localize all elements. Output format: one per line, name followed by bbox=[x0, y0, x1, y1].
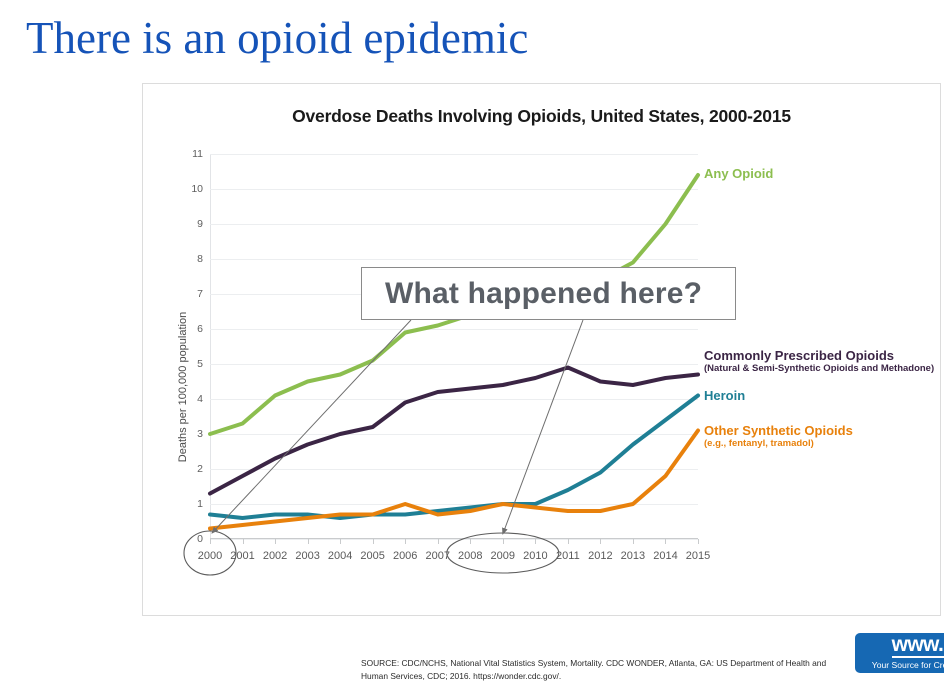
series-lines bbox=[210, 154, 698, 539]
x-tick-mark bbox=[665, 539, 666, 544]
x-tick-mark bbox=[340, 539, 341, 544]
y-tick-label: 10 bbox=[191, 183, 203, 195]
y-tick-label: 7 bbox=[197, 288, 203, 300]
x-tick-label: 2000 bbox=[198, 550, 222, 562]
x-tick-label: 2011 bbox=[556, 550, 580, 562]
x-tick-label: 2005 bbox=[360, 550, 384, 562]
y-tick-label: 5 bbox=[197, 358, 203, 370]
series-label-name: Other Synthetic Opioids bbox=[704, 423, 853, 438]
y-tick-label: 9 bbox=[197, 218, 203, 230]
series-label: Commonly Prescribed Opioids(Natural & Se… bbox=[704, 348, 934, 375]
page-title: There is an opioid epidemic bbox=[26, 10, 528, 66]
series-label-name: Commonly Prescribed Opioids bbox=[704, 348, 934, 363]
series-label-name: Any Opioid bbox=[704, 166, 773, 181]
series-label-name: Heroin bbox=[704, 388, 745, 403]
x-tick-mark bbox=[535, 539, 536, 544]
x-tick-mark bbox=[308, 539, 309, 544]
x-tick-mark bbox=[503, 539, 504, 544]
gridline bbox=[210, 539, 698, 540]
x-tick-label: 2010 bbox=[523, 550, 547, 562]
x-tick-mark bbox=[633, 539, 634, 544]
x-tick-label: 2008 bbox=[458, 550, 482, 562]
x-tick-mark bbox=[210, 539, 211, 544]
series-label: Heroin bbox=[704, 388, 745, 403]
series-label-sub: (e.g., fentanyl, tramadol) bbox=[704, 438, 853, 450]
series-label: Other Synthetic Opioids(e.g., fentanyl, … bbox=[704, 423, 853, 450]
x-tick-mark bbox=[373, 539, 374, 544]
y-tick-label: 8 bbox=[197, 253, 203, 265]
x-tick-label: 2012 bbox=[588, 550, 612, 562]
callout-box: What happened here? bbox=[361, 267, 736, 320]
x-tick-label: 2002 bbox=[263, 550, 287, 562]
x-tick-mark bbox=[438, 539, 439, 544]
y-tick-label: 2 bbox=[197, 463, 203, 475]
x-tick-mark bbox=[698, 539, 699, 544]
y-tick-label: 0 bbox=[197, 533, 203, 545]
x-tick-label: 2004 bbox=[328, 550, 352, 562]
series-line bbox=[210, 368, 698, 494]
x-tick-mark bbox=[243, 539, 244, 544]
y-tick-label: 4 bbox=[197, 393, 203, 405]
x-tick-label: 2001 bbox=[230, 550, 254, 562]
y-tick-label: 1 bbox=[197, 498, 203, 510]
cdc-logo[interactable]: www.cdc.gov Your Source for Credible Hea… bbox=[855, 633, 944, 673]
x-tick-label: 2013 bbox=[621, 550, 645, 562]
plot-wrapper: 01234567891011 2000200120022003200420052… bbox=[143, 84, 942, 617]
series-label-sub: (Natural & Semi-Synthetic Opioids and Me… bbox=[704, 363, 934, 375]
x-tick-mark bbox=[600, 539, 601, 544]
y-tick-label: 6 bbox=[197, 323, 203, 335]
y-tick-label: 3 bbox=[197, 428, 203, 440]
x-tick-label: 2009 bbox=[491, 550, 515, 562]
x-tick-mark bbox=[405, 539, 406, 544]
source-note: SOURCE: CDC/NCHS, National Vital Statist… bbox=[361, 657, 841, 682]
x-tick-mark bbox=[568, 539, 569, 544]
callout-text: What happened here? bbox=[362, 277, 702, 311]
x-tick-label: 2007 bbox=[425, 550, 449, 562]
series-label: Any Opioid bbox=[704, 166, 773, 181]
x-tick-mark bbox=[470, 539, 471, 544]
slide: There is an opioid epidemic Overdose Dea… bbox=[0, 0, 944, 619]
x-tick-label: 2015 bbox=[686, 550, 710, 562]
cdc-url-text: www.cdc.gov bbox=[892, 634, 944, 658]
plot-area: 01234567891011 2000200120022003200420052… bbox=[210, 154, 698, 539]
chart-content-frame: Overdose Deaths Involving Opioids, Unite… bbox=[142, 83, 941, 616]
cdc-tagline: Your Source for Credible Health Informat… bbox=[872, 658, 944, 672]
x-tick-mark bbox=[275, 539, 276, 544]
y-tick-label: 11 bbox=[192, 148, 203, 160]
x-tick-label: 2006 bbox=[393, 550, 417, 562]
x-tick-label: 2014 bbox=[653, 550, 677, 562]
x-tick-label: 2003 bbox=[295, 550, 319, 562]
